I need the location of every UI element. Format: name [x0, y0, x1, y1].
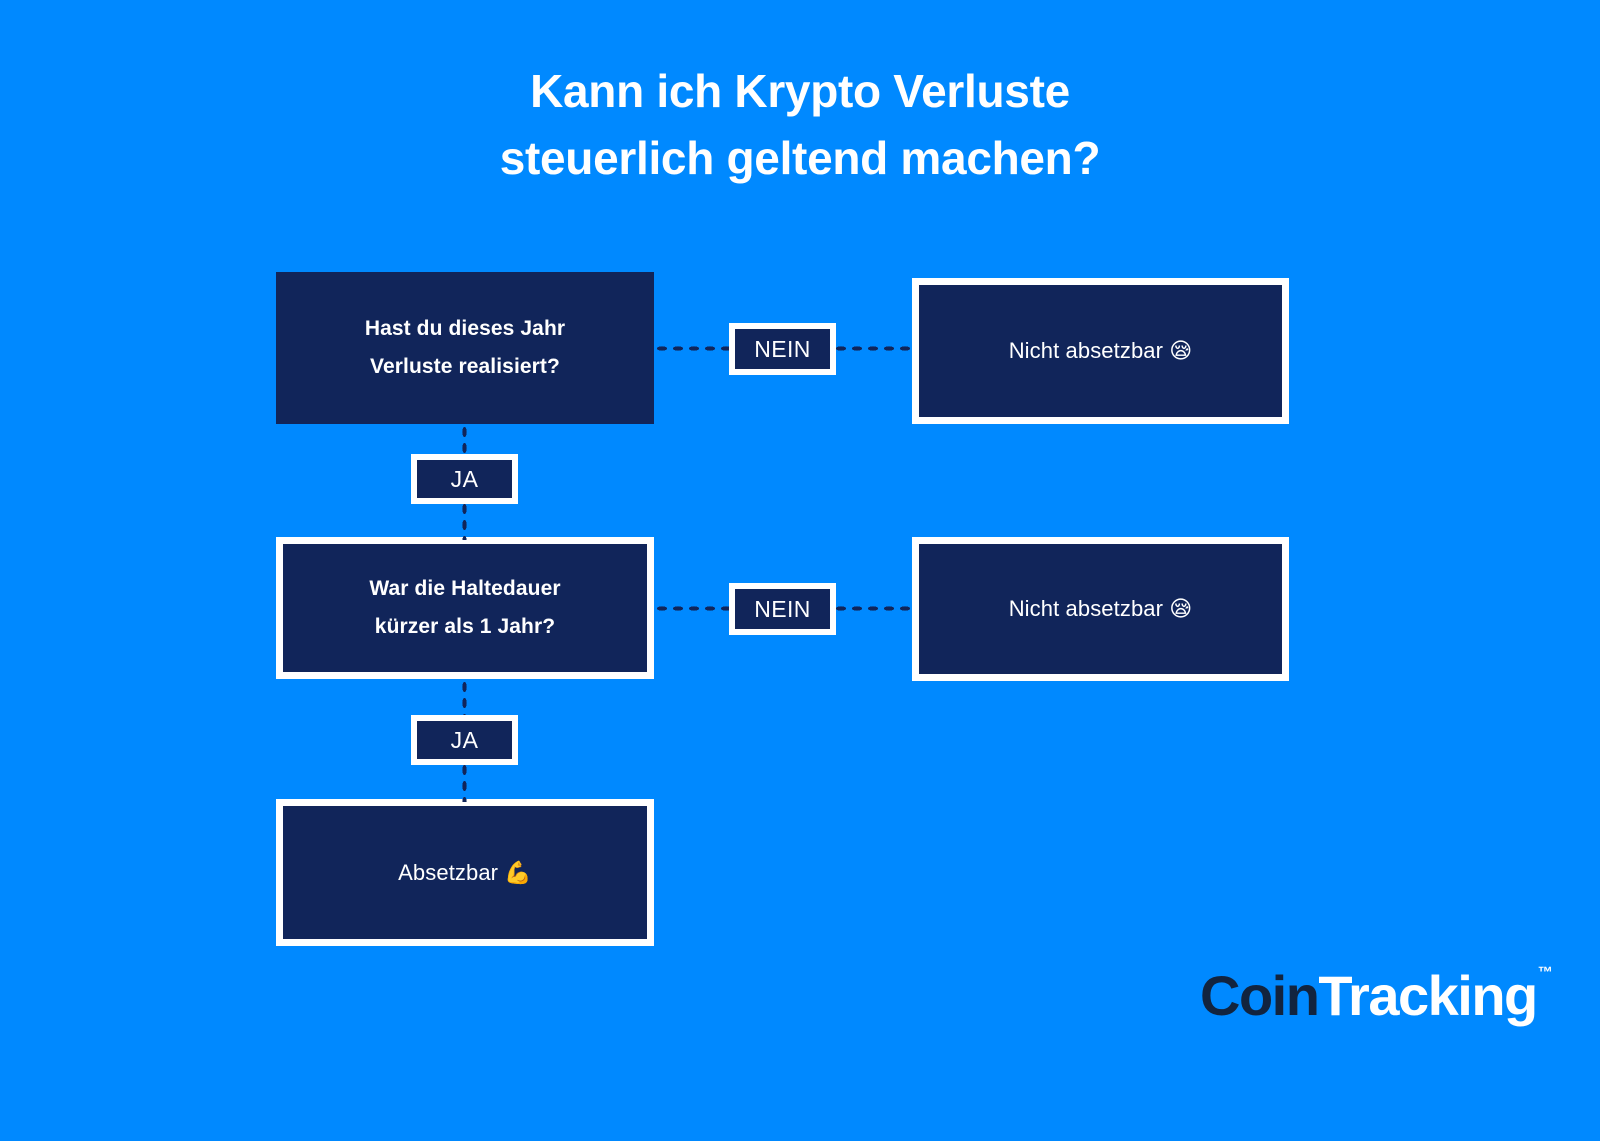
connector-ja1-to-q2 [461, 501, 468, 540]
connector-ja2-to-final [461, 762, 468, 802]
connector-q2-to-ja2 [461, 679, 468, 718]
connector-nein2-to-r2 [833, 605, 915, 612]
flow-node-result-1[interactable]: Nicht absetzbar 😪 [912, 278, 1289, 424]
edge-label-ja-2-text: JA [451, 727, 479, 754]
edge-label-ja-1-text: JA [451, 466, 479, 493]
page-title-line-1: Kann ich Krypto Verluste [0, 58, 1600, 125]
connector-q1-to-nein1 [654, 345, 732, 352]
logo-text-coin: Coin [1200, 964, 1318, 1027]
edge-label-nein-2[interactable]: NEIN [729, 583, 836, 635]
edge-label-ja-2[interactable]: JA [411, 715, 518, 765]
flow-node-result-2[interactable]: Nicht absetzbar 😪 [912, 537, 1289, 681]
flow-node-question-1[interactable]: Hast du dieses Jahr Verluste realisiert? [276, 272, 654, 424]
page-title-line-2: steuerlich geltend machen? [0, 125, 1600, 192]
cointracking-logo[interactable]: CoinTracking™ [1200, 968, 1552, 1024]
logo-text-tracking: Tracking [1318, 964, 1536, 1027]
connector-nein1-to-r1 [833, 345, 915, 352]
connector-q2-to-nein2 [654, 605, 732, 612]
flow-node-question-1-label: Hast du dieses Jahr Verluste realisiert? [365, 310, 565, 386]
infographic-canvas: Kann ich Krypto Verluste steuerlich gelt… [0, 0, 1600, 1141]
edge-label-nein-1[interactable]: NEIN [729, 323, 836, 375]
flow-node-question-2-label: War die Haltedauer kürzer als 1 Jahr? [369, 570, 560, 646]
flow-node-question-2[interactable]: War die Haltedauer kürzer als 1 Jahr? [276, 537, 654, 679]
trademark-icon: ™ [1538, 964, 1553, 981]
flow-node-result-1-label: Nicht absetzbar 😪 [1009, 332, 1193, 370]
edge-label-ja-1[interactable]: JA [411, 454, 518, 504]
flow-node-result-final-label: Absetzbar 💪 [398, 854, 532, 892]
flow-node-result-2-label: Nicht absetzbar 😪 [1009, 590, 1193, 628]
edge-label-nein-1-text: NEIN [754, 336, 811, 363]
flow-node-result-final[interactable]: Absetzbar 💪 [276, 799, 654, 946]
edge-label-nein-2-text: NEIN [754, 596, 811, 623]
connector-q1-to-ja1 [461, 424, 468, 457]
page-title: Kann ich Krypto Verluste steuerlich gelt… [0, 58, 1600, 192]
